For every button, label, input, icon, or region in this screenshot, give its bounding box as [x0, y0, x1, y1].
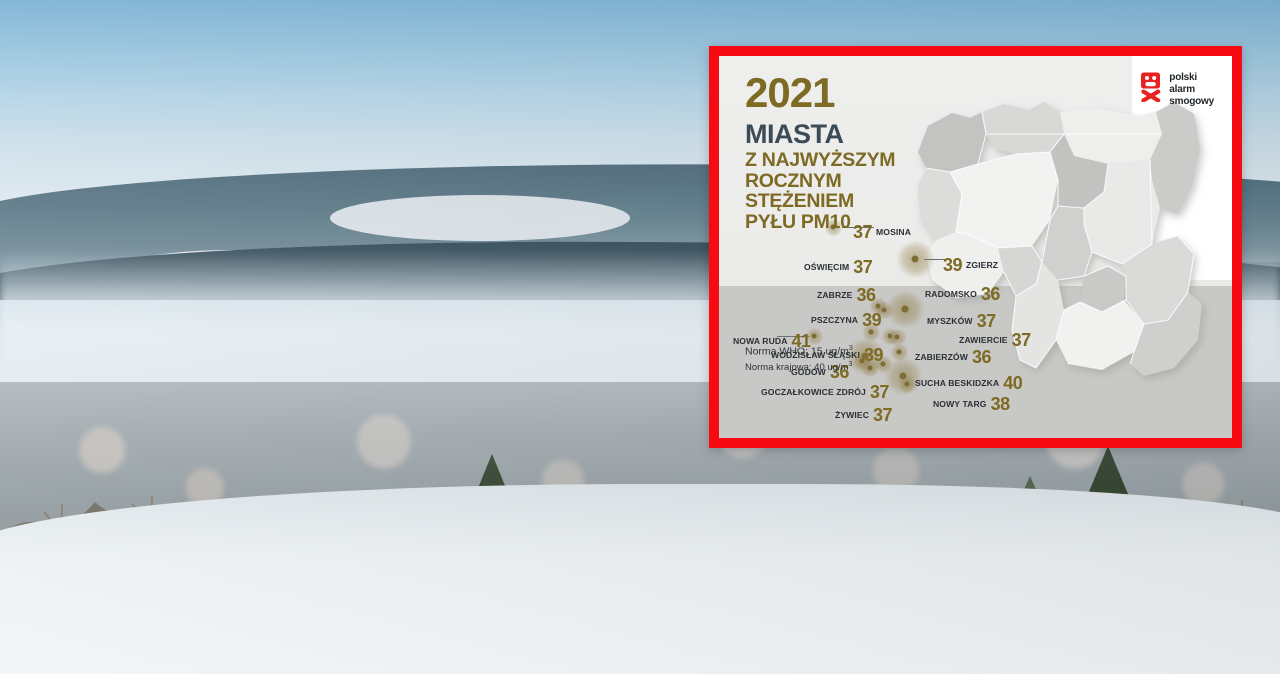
- city-value: 40: [1003, 374, 1022, 392]
- norms-block: Norma WHO: 15 ug/m3 Norma krajowa: 40 ug…: [745, 344, 853, 375]
- city-name: ZAWIERCIE: [959, 336, 1008, 345]
- city-name: PSZCZYNA: [811, 316, 858, 325]
- city-label: 39ZGIERZ: [943, 256, 998, 274]
- norm-national-text: Norma krajowa: 40 ug/m: [745, 362, 848, 373]
- infographic-card: 2021 MIASTA Z NAJWYŻSZYM ROCZNYM STĘŻENI…: [709, 46, 1242, 448]
- city-marker-dot[interactable]: [881, 362, 886, 367]
- city-value: 37: [870, 383, 889, 401]
- city-value: 39: [862, 311, 881, 329]
- city-label: NOWY TARG38: [933, 395, 1010, 413]
- city-name: ŻYWIEC: [835, 411, 869, 420]
- city-marker-dot[interactable]: [905, 382, 910, 387]
- title-line-4: PYŁU PM10: [745, 212, 935, 233]
- title-block: 2021 MIASTA Z NAJWYŻSZYM ROCZNYM STĘŻENI…: [745, 72, 935, 233]
- city-marker-dot[interactable]: [902, 306, 909, 313]
- logo-text: polski alarm smogowy: [1169, 72, 1214, 109]
- city-name: ZABRZE: [817, 291, 852, 300]
- title-line-3: STĘŻENIEM: [745, 191, 935, 212]
- city-value: 37: [853, 258, 872, 276]
- city-label: ZAWIERCIE37: [959, 331, 1031, 349]
- pas-logo: polski alarm smogowy: [1140, 72, 1214, 109]
- norm-who-text: Norma WHO: 15 ug/m: [745, 346, 849, 358]
- city-label: RADOMSKO36: [925, 285, 1000, 303]
- city-label: ZABIERZÓW36: [915, 348, 991, 366]
- city-label: OŚWIĘCIM37: [804, 258, 872, 276]
- city-label: GOCZAŁKOWICE ZDRÓJ37: [761, 383, 889, 401]
- city-value: 36: [856, 286, 875, 304]
- city-name: NOWY TARG: [933, 400, 987, 409]
- city-name: SUCHA BESKIDZKA: [915, 379, 999, 388]
- city-value: 37: [1012, 331, 1031, 349]
- title-subtitle: Z NAJWYŻSZYM ROCZNYM STĘŻENIEM PYŁU PM10: [745, 150, 935, 233]
- city-label: ZABRZE36: [817, 286, 875, 304]
- city-value: 37: [873, 406, 892, 424]
- city-label: ŻYWIEC37: [835, 406, 892, 424]
- city-value: 39: [943, 256, 962, 274]
- city-name: MYSZKÓW: [927, 317, 973, 326]
- city-name: ZGIERZ: [966, 261, 998, 270]
- city-marker-dot[interactable]: [812, 334, 817, 339]
- city-marker-dot[interactable]: [868, 366, 873, 371]
- city-name: ZABIERZÓW: [915, 353, 968, 362]
- foreground-snowfield: [0, 484, 1280, 674]
- city-marker-dot[interactable]: [895, 335, 900, 340]
- year-label: 2021: [745, 72, 935, 114]
- title-main: MIASTA: [745, 121, 935, 148]
- city-name: RADOMSKO: [925, 290, 977, 299]
- title-line-2: ROCZNYM: [745, 171, 935, 192]
- title-line-1: Z NAJWYŻSZYM: [745, 150, 935, 171]
- city-marker-dot[interactable]: [897, 350, 902, 355]
- snow-patch: [330, 195, 630, 241]
- city-marker-dot[interactable]: [876, 304, 881, 309]
- norm-who: Norma WHO: 15 ug/m3: [745, 344, 853, 360]
- city-name: OŚWIĘCIM: [804, 263, 849, 272]
- city-label: PSZCZYNA39: [811, 311, 881, 329]
- city-marker-dot[interactable]: [912, 256, 919, 263]
- logo-line-2: alarm: [1169, 84, 1214, 96]
- city-value: 36: [972, 348, 991, 366]
- city-value: 37: [977, 312, 996, 330]
- logo-line-1: polski: [1169, 72, 1214, 84]
- norm-who-sup: 3: [849, 345, 853, 352]
- polski-alarm-smogowy-icon: [1140, 72, 1162, 102]
- screenshot-root: 2021 MIASTA Z NAJWYŻSZYM ROCZNYM STĘŻENI…: [0, 0, 1280, 674]
- city-marker-dot[interactable]: [869, 330, 874, 335]
- city-label: MYSZKÓW37: [927, 312, 996, 330]
- norm-national-sup: 3: [848, 361, 852, 368]
- city-name: GOCZAŁKOWICE ZDRÓJ: [761, 388, 866, 397]
- city-label: SUCHA BESKIDZKA40: [915, 374, 1022, 392]
- city-value: 38: [991, 395, 1010, 413]
- infographic-inner: 2021 MIASTA Z NAJWYŻSZYM ROCZNYM STĘŻENI…: [719, 56, 1232, 438]
- city-value: 36: [981, 285, 1000, 303]
- logo-line-3: smogowy: [1169, 96, 1214, 108]
- norm-national: Norma krajowa: 40 ug/m3: [745, 360, 853, 375]
